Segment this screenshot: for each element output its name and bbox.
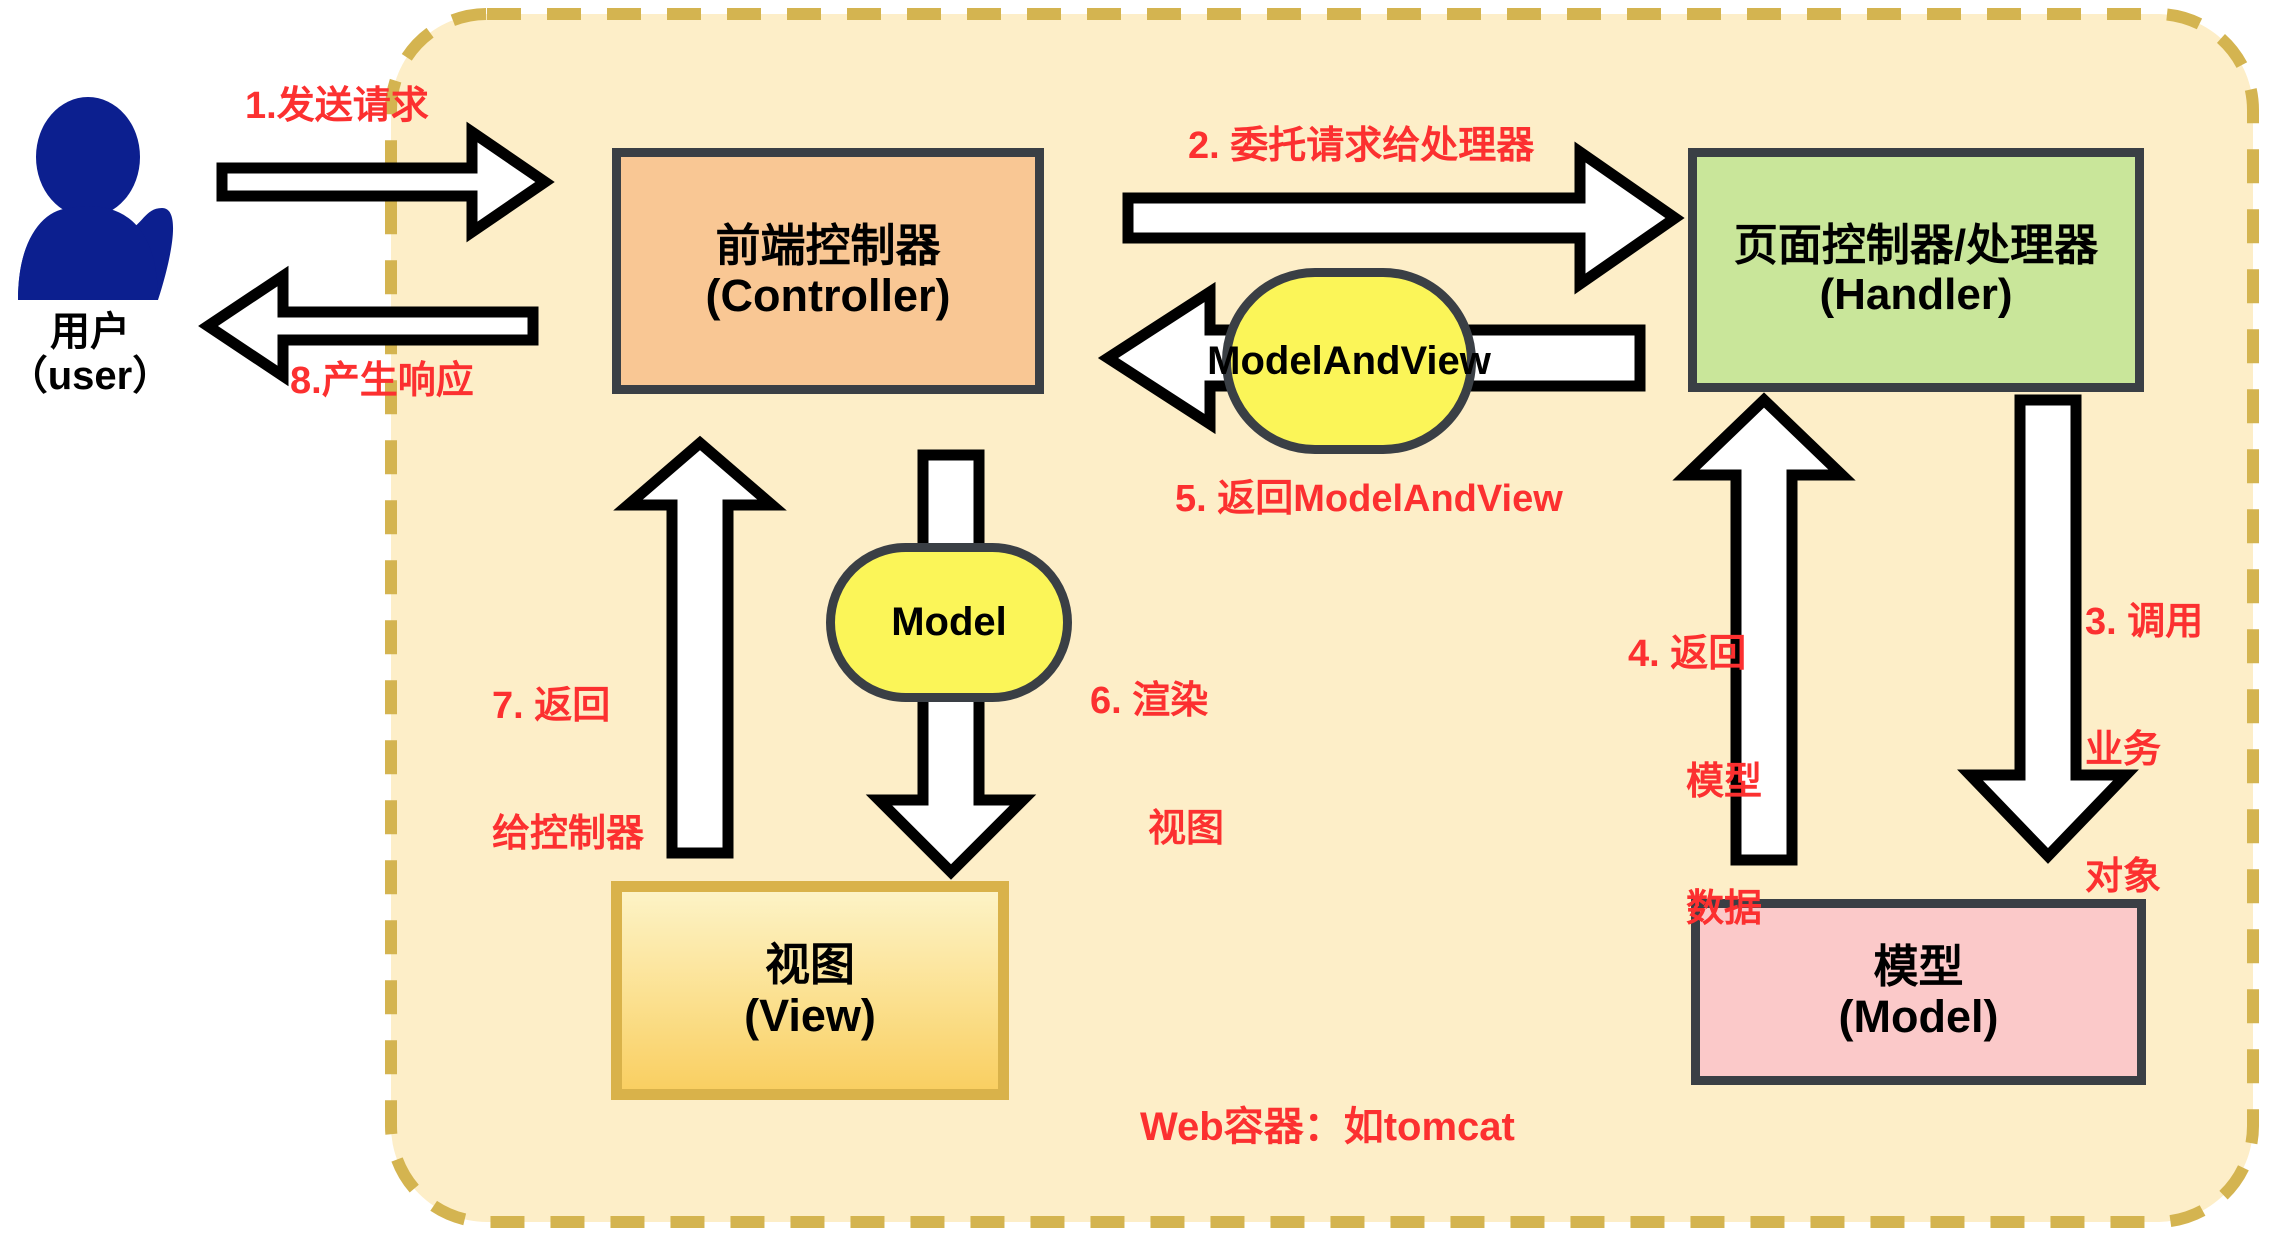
annotation-step-6-line-2: 视图 [1090,808,1224,851]
actor-user-label-cn: 用户 [50,310,130,354]
node-model-pill[interactable]: Model [826,543,1072,702]
annotation-step-2: 2. 委托请求给处理器 [1188,125,1534,168]
node-handler[interactable]: 页面控制器/处理器 (Handler) [1688,148,2144,392]
annotation-step-1: 1.发送请求 [245,85,429,128]
annotation-step-7: 7. 返回 给控制器 [492,600,644,940]
annotation-step-3: 3. 调用 业务 对象 [2085,516,2203,984]
node-model-label-en: (Model) [1839,992,1999,1042]
node-model-and-view-label: ModelAndView [1207,339,1491,384]
node-handler-label-cn: 页面控制器/处理器 [1734,221,2098,270]
node-controller[interactable]: 前端控制器 (Controller) [612,148,1044,394]
arrow-step-1 [222,132,545,232]
node-view-label-en: (View) [744,991,876,1041]
annotation-step-7-line-2: 给控制器 [492,813,644,856]
web-container-caption: Web容器：如tomcat [1140,1105,1515,1150]
actor-user-label: 用户 （user） [0,310,180,398]
node-model-and-view[interactable]: ModelAndView [1222,268,1476,454]
diagram-canvas: 用户 （user） 前端控制器 (Controller) 页面控制器/处理器 (… [0,0,2271,1239]
node-model-label-cn: 模型 [1873,942,1963,992]
node-view[interactable]: 视图 (View) [611,881,1009,1100]
annotation-step-4-line-2: 模型 [1628,761,1762,804]
annotation-step-4-line-1: 4. 返回 [1628,633,1762,676]
actor-user-label-en: （user） [8,354,173,398]
annotation-step-7-line-1: 7. 返回 [492,685,644,728]
node-model-pill-label: Model [891,600,1007,645]
annotation-step-3-line-2: 业务 [2085,729,2203,772]
annotation-step-4-line-3: 数据 [1628,888,1762,931]
annotation-step-6-line-1: 6. 渲染 [1090,680,1224,723]
annotation-step-6: 6. 渲染 视图 [1090,595,1224,935]
annotation-step-3-line-3: 对象 [2085,856,2203,899]
annotation-step-8: 8.产生响应 [290,360,474,403]
annotation-step-3-line-1: 3. 调用 [2085,601,2203,644]
annotation-step-5: 5. 返回ModelAndView [1175,478,1563,521]
annotation-step-4: 4. 返回 模型 数据 [1628,548,1762,1016]
node-handler-label-en: (Handler) [1819,270,2012,319]
node-controller-label-cn: 前端控制器 [715,221,940,271]
user-person-icon [18,97,173,300]
node-controller-label-en: (Controller) [706,271,951,321]
node-view-label-cn: 视图 [765,940,855,990]
